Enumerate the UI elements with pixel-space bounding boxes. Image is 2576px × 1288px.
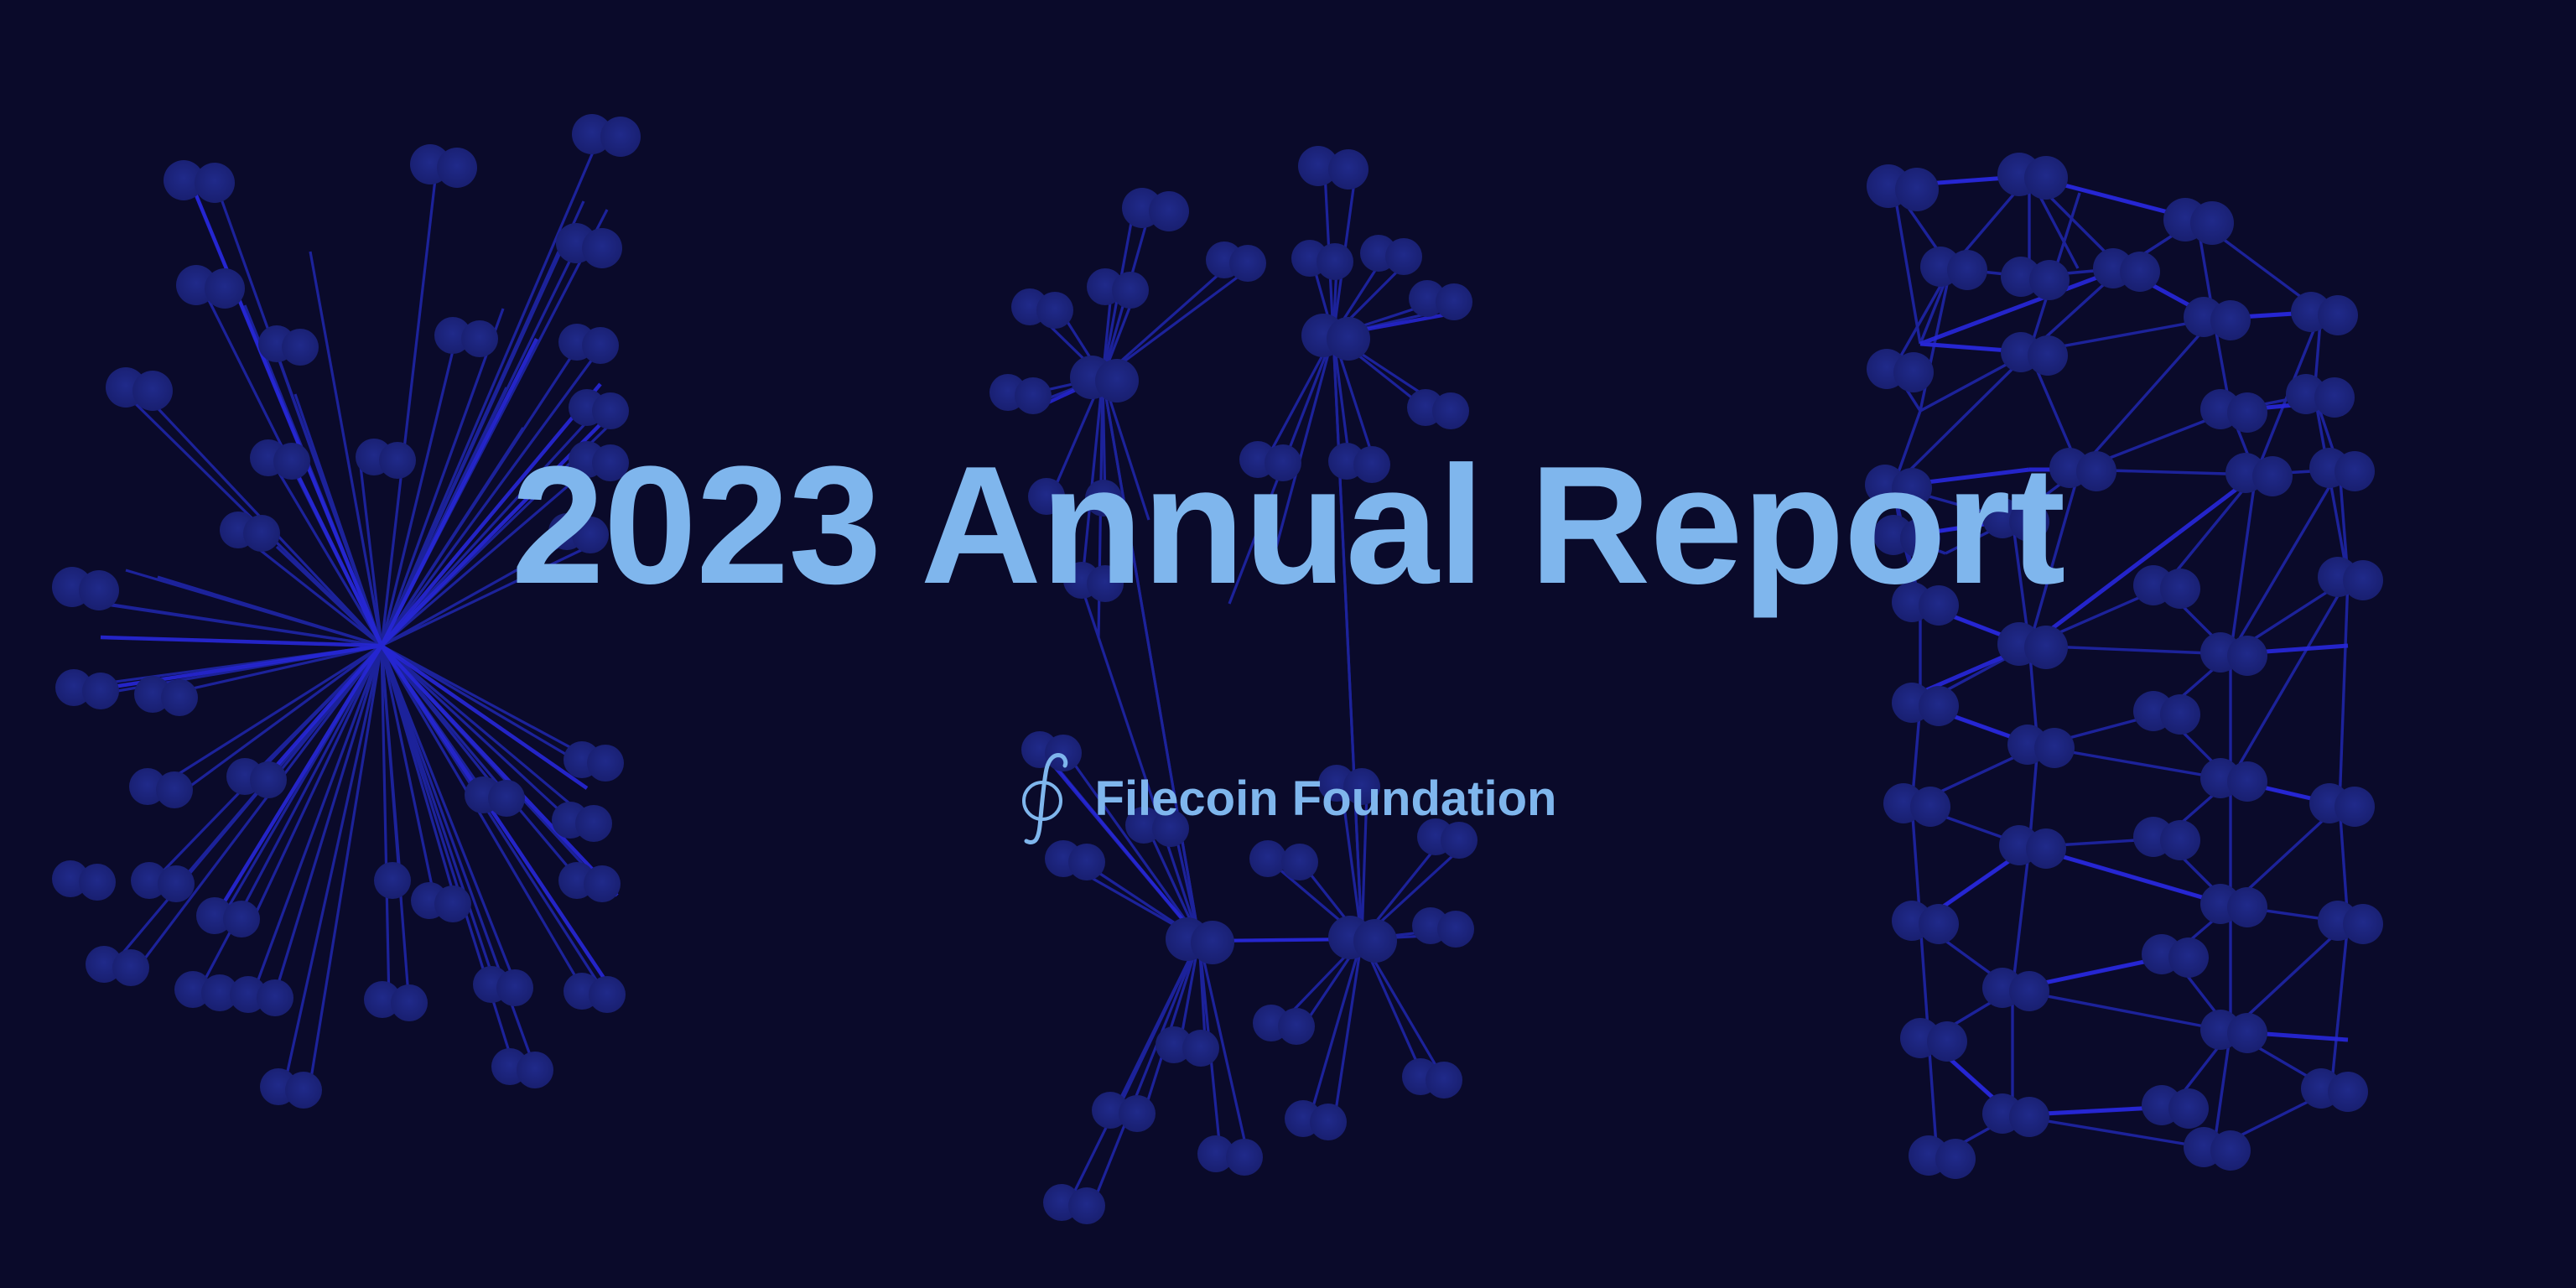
cover-content: 2023 Annual Report Filecoin Foundation xyxy=(0,0,2576,1288)
filecoin-integral-icon xyxy=(1020,752,1072,846)
page-title: 2023 Annual Report xyxy=(512,442,2065,610)
annual-report-cover: 2023 Annual Report Filecoin Foundation xyxy=(0,0,2576,1288)
brand-lockup: Filecoin Foundation xyxy=(1020,752,1557,846)
brand-name: Filecoin Foundation xyxy=(1095,775,1557,823)
